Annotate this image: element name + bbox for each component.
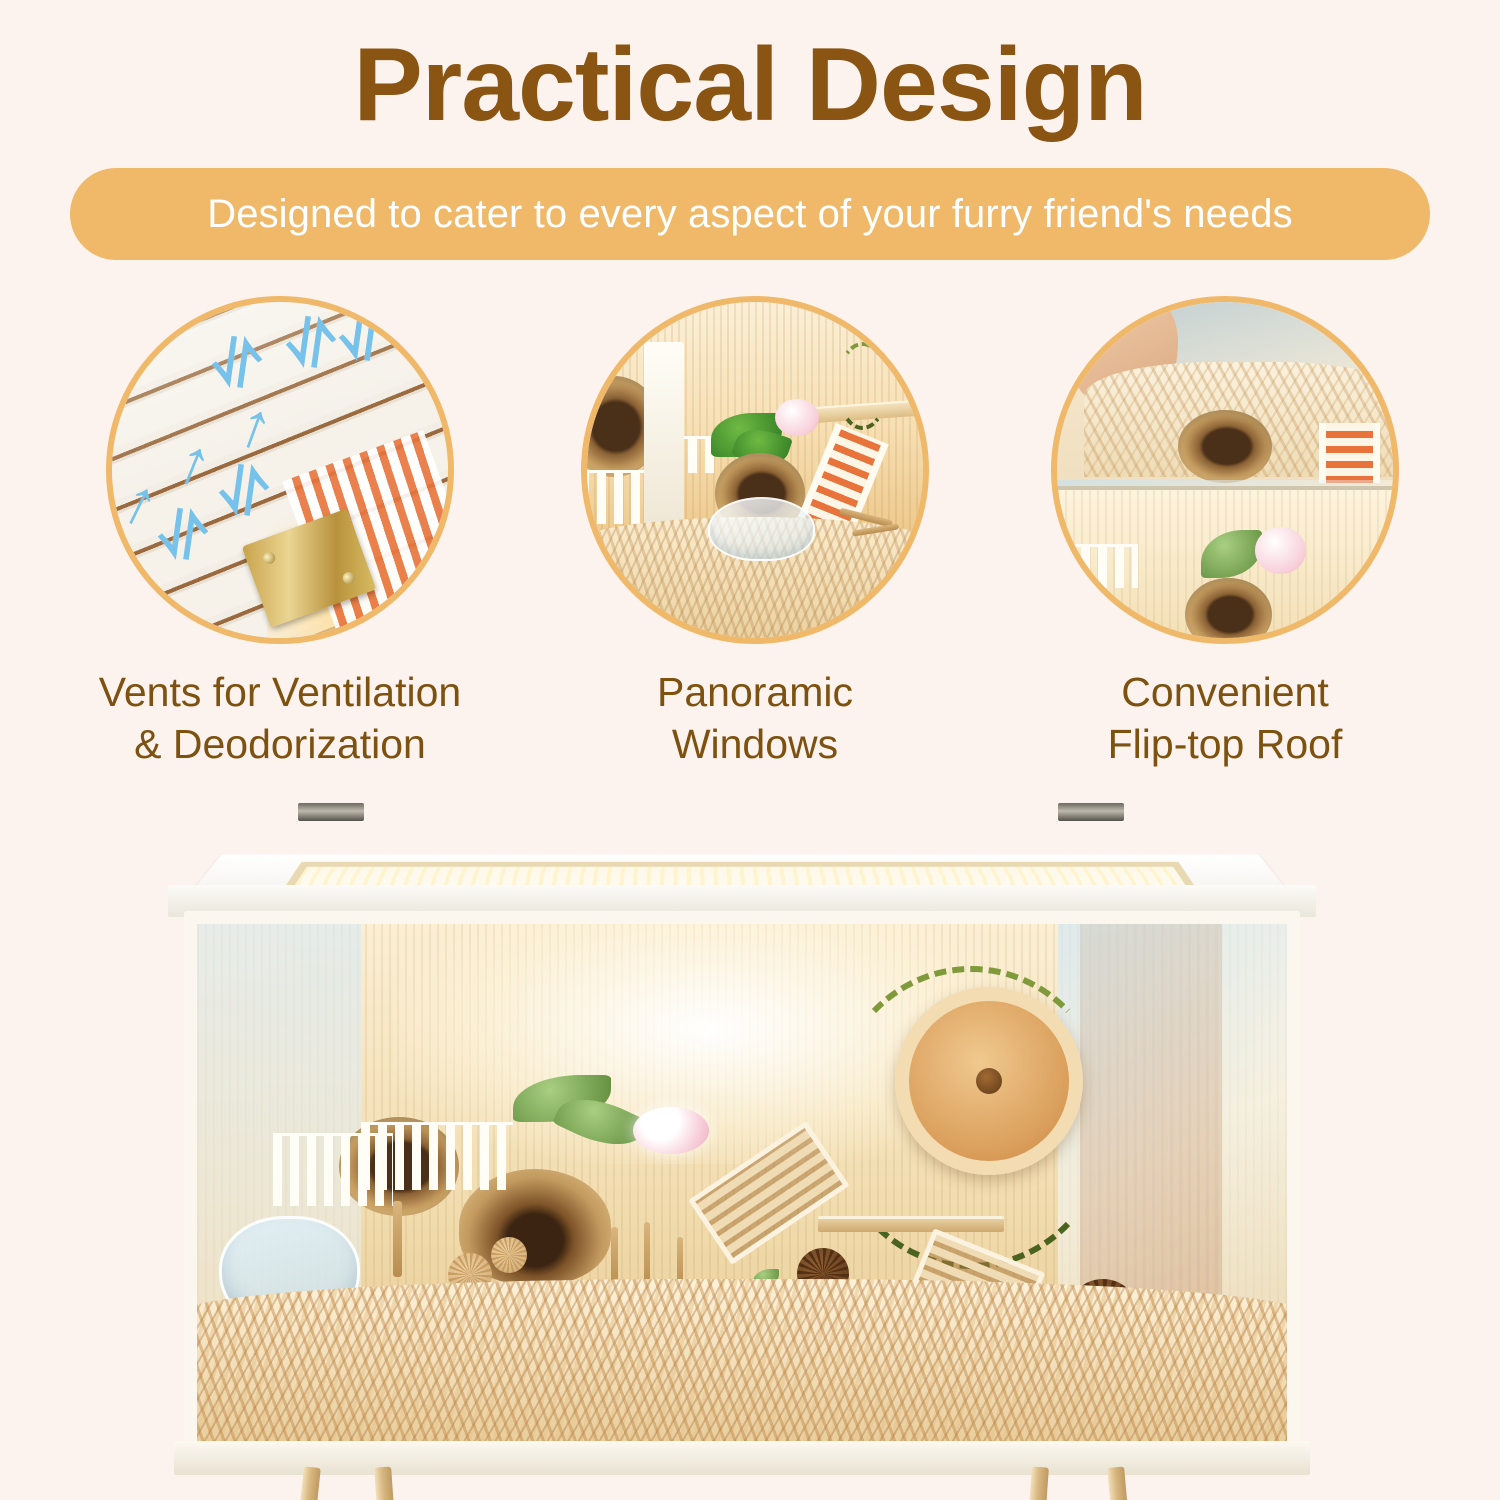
caption-line-1: Convenient: [1015, 666, 1435, 718]
wood-stick: [393, 1201, 402, 1277]
caption-line-2: Flip-top Roof: [1015, 718, 1435, 770]
feature-card-flip-top-roof: Convenient Flip-top Roof: [1015, 296, 1435, 771]
cage-base-rail: [174, 1441, 1310, 1475]
subtitle-banner: Designed to cater to every aspect of you…: [70, 168, 1430, 260]
wooden-platform: [818, 1216, 1003, 1232]
sand-bath-bowl-icon: [708, 497, 816, 561]
feature-caption-ventilation: Vents for Ventilation & Deodorization: [70, 666, 490, 771]
caption-line-2: Windows: [545, 718, 965, 770]
caption-line-1: Panoramic: [545, 666, 965, 718]
airflow-arrow-icon: ⥯: [282, 309, 338, 379]
flower-icon: [1255, 527, 1305, 574]
flower-icon: [775, 399, 819, 436]
feature-caption-panoramic-windows: Panoramic Windows: [545, 666, 965, 771]
subtitle-text: Designed to cater to every aspect of you…: [207, 192, 1293, 237]
feature-image-panoramic-windows: [581, 296, 929, 644]
brass-hinge-left: [298, 803, 364, 821]
airflow-arrow-icon: ⥯: [155, 501, 211, 571]
wood-shaving-bedding: [184, 1279, 1300, 1456]
feature-image-flip-top-roof: [1051, 296, 1399, 644]
feature-caption-flip-top-roof: Convenient Flip-top Roof: [1015, 666, 1435, 771]
feature-card-panoramic-windows: Panoramic Windows: [545, 296, 965, 771]
airflow-arrow-icon: ⥯: [215, 457, 271, 527]
airflow-arrow-icon: ⥯: [336, 302, 392, 372]
feature-highlights: ⥯ ⥯ ⥯ ↑ ↑ ⥯ ↑ ⥯ Vents for Ventilation & …: [0, 296, 1500, 776]
cage-body: [168, 899, 1316, 1469]
brass-hinge-right: [1058, 803, 1124, 821]
pink-flower: [633, 1107, 709, 1154]
caption-line-1: Vents for Ventilation: [70, 666, 490, 718]
feature-card-ventilation: ⥯ ⥯ ⥯ ↑ ↑ ⥯ ↑ ⥯ Vents for Ventilation & …: [70, 296, 490, 771]
hanging-fence: [361, 1122, 514, 1190]
wooden-running-wheel: [895, 987, 1083, 1175]
feature-image-ventilation: ⥯ ⥯ ⥯ ↑ ↑ ⥯ ↑ ⥯: [106, 296, 454, 644]
woven-tunnel-icon: [1178, 410, 1272, 484]
ladder-icon: [1319, 423, 1379, 483]
page-title: Practical Design: [0, 26, 1500, 146]
acrylic-front-panel: [184, 911, 1300, 1459]
product-photo: [0, 795, 1500, 1500]
white-fence-icon: [1064, 544, 1138, 588]
vine-icon: [836, 342, 890, 429]
caption-line-2: & Deodorization: [70, 718, 490, 770]
roof-edge-icon: [1057, 480, 1393, 490]
